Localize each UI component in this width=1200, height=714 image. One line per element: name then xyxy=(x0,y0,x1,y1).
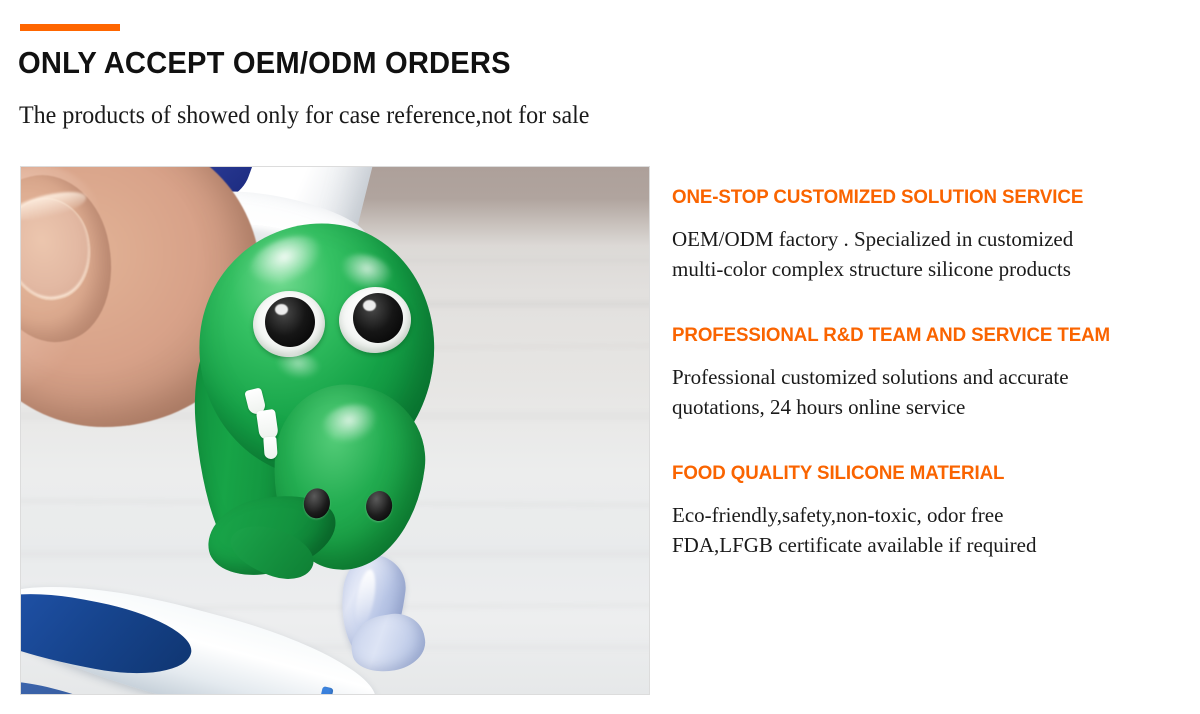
feature-description-line: Eco-friendly,safety,non-toxic, odor free xyxy=(672,500,1182,530)
feature-description-line: quotations, 24 hours online service xyxy=(672,392,1182,422)
photo-scene xyxy=(21,167,649,694)
feature-description-line: OEM/ODM factory . Specialized in customi… xyxy=(672,224,1182,254)
feature-title: FOOD QUALITY SILICONE MATERIAL xyxy=(672,462,1162,485)
feature-item-professional-rd-team-and-service-team: PROFESSIONAL R&D TEAM AND SERVICE TEAM P… xyxy=(672,324,1182,422)
accent-bar xyxy=(20,24,120,31)
feature-description-line: Professional customized solutions and ac… xyxy=(672,362,1182,392)
feature-item-food-quality-silicone-material: FOOD QUALITY SILICONE MATERIAL Eco-frien… xyxy=(672,462,1182,560)
feature-item-one-stop-customized-solution-service: ONE-STOP CUSTOMIZED SOLUTION SERVICE OEM… xyxy=(672,186,1182,284)
page-title: ONLY ACCEPT OEM/ODM ORDERS xyxy=(18,45,511,81)
feature-list: ONE-STOP CUSTOMIZED SOLUTION SERVICE OEM… xyxy=(672,186,1182,560)
crocodile-nostril xyxy=(364,489,394,522)
crocodile-eye-glint xyxy=(363,300,376,311)
feature-description-line: FDA,LFGB certificate available if requir… xyxy=(672,530,1182,560)
feature-description-line: multi-color complex structure silicone p… xyxy=(672,254,1182,284)
crocodile-pupil-right xyxy=(353,293,403,343)
crocodile-nostril xyxy=(302,487,332,520)
crocodile-pupil-left xyxy=(265,297,315,347)
crocodile-tooth xyxy=(263,437,278,460)
feature-title: PROFESSIONAL R&D TEAM AND SERVICE TEAM xyxy=(672,324,1162,347)
product-photo xyxy=(20,166,650,695)
feature-title: ONE-STOP CUSTOMIZED SOLUTION SERVICE xyxy=(672,186,1162,209)
crocodile-eye-glint xyxy=(275,304,288,315)
page-subtitle: The products of showed only for case ref… xyxy=(19,102,589,130)
